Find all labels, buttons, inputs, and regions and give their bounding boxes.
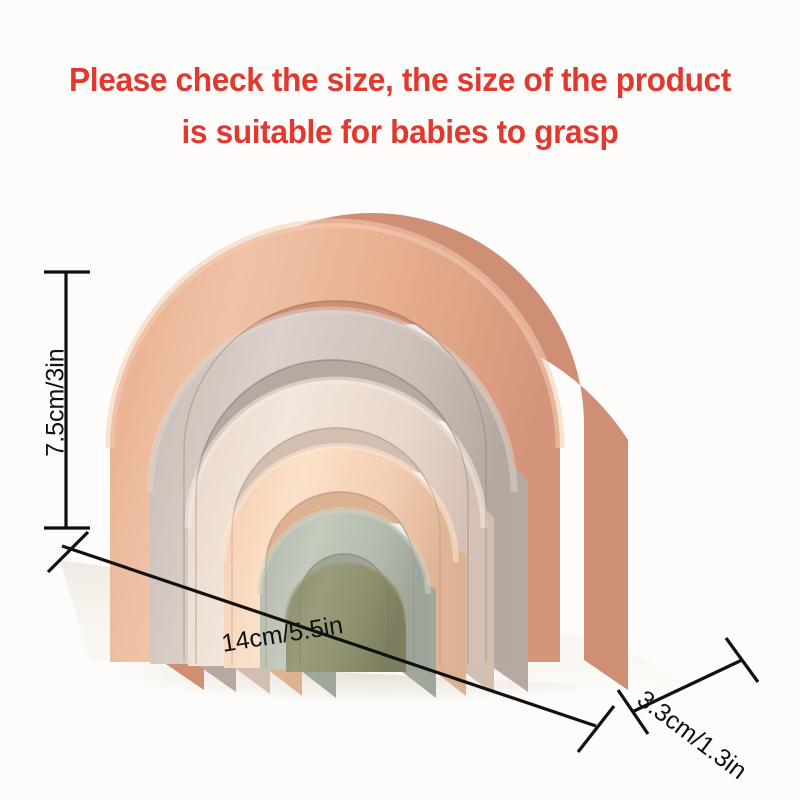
product-size-infographic: Please check the size, the size of the p…	[0, 0, 800, 800]
dim-width-tick-right	[578, 706, 614, 752]
dim-depth-tick-far	[726, 638, 758, 682]
product-illustration	[0, 0, 800, 800]
dimension-label-height: 7.5cm/3in	[42, 333, 71, 473]
